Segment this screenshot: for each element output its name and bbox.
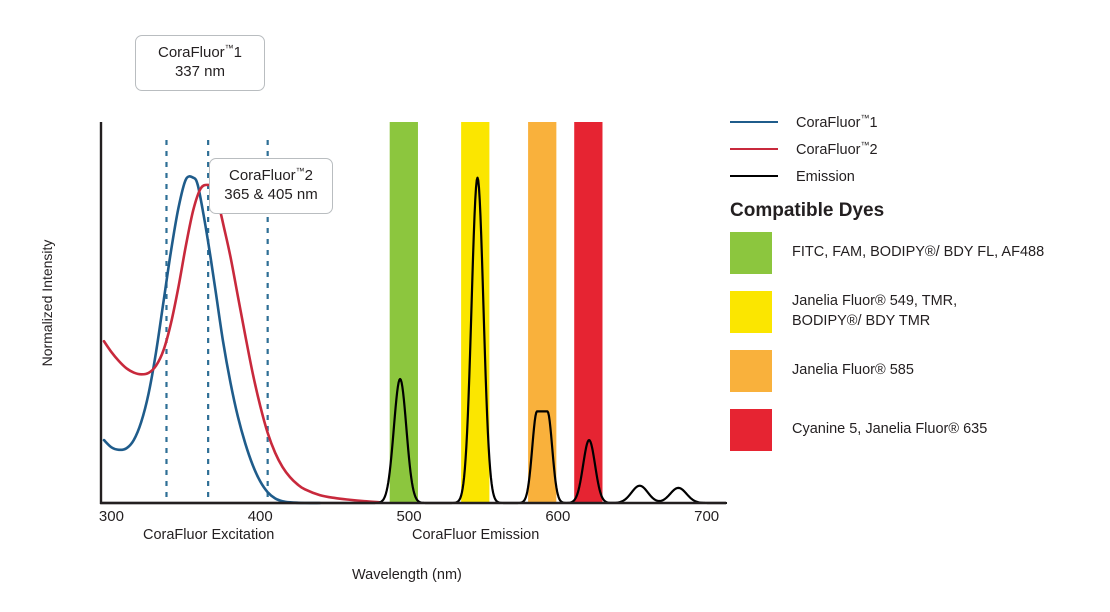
legend-line-swatch bbox=[730, 175, 778, 177]
x-tick-300: 300 bbox=[81, 508, 141, 525]
x-tick-700: 700 bbox=[677, 508, 737, 525]
x-axis-label: Wavelength (nm) bbox=[352, 567, 462, 583]
series-legend: CoraFluor™1CoraFluor™2Emission bbox=[730, 108, 1100, 189]
dye-label-line1: Cyanine 5, Janelia Fluor® 635 bbox=[792, 420, 987, 440]
compatible-dyes-title: Compatible Dyes bbox=[730, 200, 884, 222]
legend-label: Emission bbox=[796, 167, 855, 185]
callout-corafluor2-name: CoraFluor bbox=[229, 167, 296, 184]
callout-corafluor1: CoraFluor™1 337 nm bbox=[135, 35, 265, 91]
callout-corafluor2-line2: 365 & 405 nm bbox=[220, 186, 322, 205]
trademark-icon: ™ bbox=[225, 43, 234, 53]
dye-label-line1: FITC, FAM, BODIPY®/ BDY FL, AF488 bbox=[792, 243, 1044, 263]
dye-row-3: Cyanine 5, Janelia Fluor® 635 bbox=[730, 409, 1105, 451]
dye-label: Janelia Fluor® 549, TMR,BODIPY®/ BDY TMR bbox=[792, 292, 957, 331]
dye-label-line1: Janelia Fluor® 585 bbox=[792, 361, 914, 381]
dye-color-swatch bbox=[730, 350, 772, 392]
x-tick-500: 500 bbox=[379, 508, 439, 525]
callout-corafluor1-name: CoraFluor bbox=[158, 44, 225, 61]
dye-row-1: Janelia Fluor® 549, TMR,BODIPY®/ BDY TMR bbox=[730, 291, 1105, 333]
legend-label-suffix: 1 bbox=[869, 114, 877, 130]
dye-color-swatch bbox=[730, 291, 772, 333]
legend-line-swatch bbox=[730, 148, 778, 150]
emission-range-label: CoraFluor Emission bbox=[412, 527, 539, 543]
legend-row-1: CoraFluor™2 bbox=[730, 135, 1100, 162]
dye-band-0 bbox=[390, 122, 418, 503]
dye-label: Cyanine 5, Janelia Fluor® 635 bbox=[792, 420, 987, 440]
compatible-dyes-list: FITC, FAM, BODIPY®/ BDY FL, AF488Janelia… bbox=[730, 232, 1105, 468]
dye-label: FITC, FAM, BODIPY®/ BDY FL, AF488 bbox=[792, 243, 1044, 263]
dye-band-3 bbox=[574, 122, 602, 503]
callout-corafluor1-suffix: 1 bbox=[234, 44, 242, 61]
callout-corafluor1-line1: CoraFluor™1 bbox=[146, 43, 254, 63]
legend-row-0: CoraFluor™1 bbox=[730, 108, 1100, 135]
x-tick-600: 600 bbox=[528, 508, 588, 525]
dye-label-line1: Janelia Fluor® 549, TMR, bbox=[792, 292, 957, 312]
excitation-range-label: CoraFluor Excitation bbox=[143, 527, 274, 543]
y-axis-label: Normalized Intensity bbox=[39, 223, 55, 383]
callout-corafluor2-line1: CoraFluor™2 bbox=[220, 166, 322, 186]
callout-corafluor2-suffix: 2 bbox=[305, 167, 313, 184]
callout-corafluor2: CoraFluor™2 365 & 405 nm bbox=[209, 158, 333, 214]
trademark-icon: ™ bbox=[296, 166, 305, 176]
dye-label-line2: BODIPY®/ BDY TMR bbox=[792, 312, 957, 332]
legend-row-2: Emission bbox=[730, 162, 1100, 189]
dye-color-swatch bbox=[730, 232, 772, 274]
dye-row-0: FITC, FAM, BODIPY®/ BDY FL, AF488 bbox=[730, 232, 1105, 274]
spectra-figure: CoraFluor™1 337 nm CoraFluor™2 365 & 405… bbox=[0, 0, 1110, 612]
curve-corafluor2 bbox=[104, 185, 379, 502]
legend-line-swatch bbox=[730, 121, 778, 123]
x-tick-400: 400 bbox=[230, 508, 290, 525]
legend-label: CoraFluor™2 bbox=[796, 140, 878, 158]
legend-label-text: CoraFluor bbox=[796, 114, 860, 130]
dye-label: Janelia Fluor® 585 bbox=[792, 361, 914, 381]
curve-corafluor1 bbox=[104, 176, 320, 503]
legend-label-suffix: 2 bbox=[869, 141, 877, 157]
dye-color-swatch bbox=[730, 409, 772, 451]
callout-corafluor1-line2: 337 nm bbox=[146, 63, 254, 82]
legend-label: CoraFluor™1 bbox=[796, 113, 878, 131]
legend-label-text: CoraFluor bbox=[796, 141, 860, 157]
legend-label-text: Emission bbox=[796, 168, 855, 184]
dye-row-2: Janelia Fluor® 585 bbox=[730, 350, 1105, 392]
